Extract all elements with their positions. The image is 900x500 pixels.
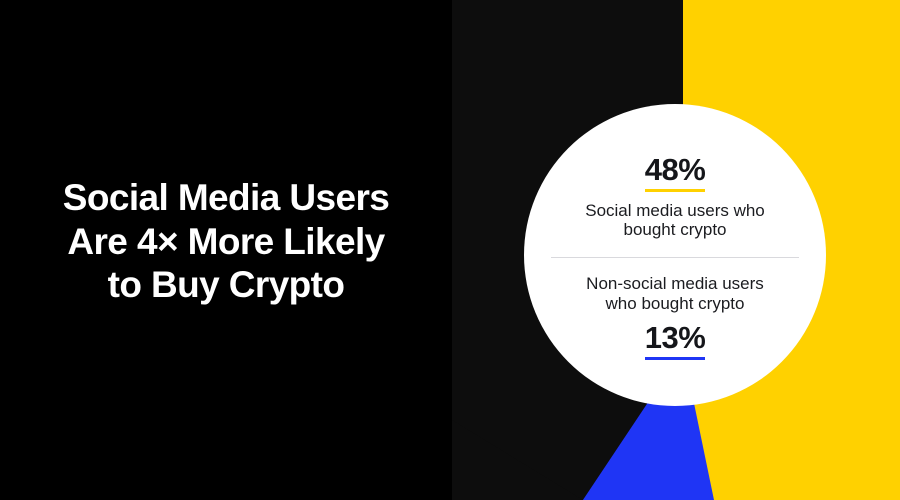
stat-circle-card: 48% Social media users who bought crypto… (524, 104, 826, 406)
stat-value-top: 48% (645, 154, 706, 192)
stat-block-bottom: Non-social media users who bought crypto… (542, 274, 808, 360)
stat-block-top: 48% Social media users who bought crypto (542, 154, 808, 240)
stat-label-bottom: Non-social media users who bought crypto (542, 274, 808, 313)
page-title: Social Media Users Are 4× More Likely to… (0, 176, 452, 307)
infographic-canvas: Social Media Users Are 4× More Likely to… (0, 0, 900, 500)
stat-value-bottom: 13% (645, 322, 706, 360)
card-divider (551, 257, 799, 258)
stat-label-top: Social media users who bought crypto (542, 201, 808, 240)
